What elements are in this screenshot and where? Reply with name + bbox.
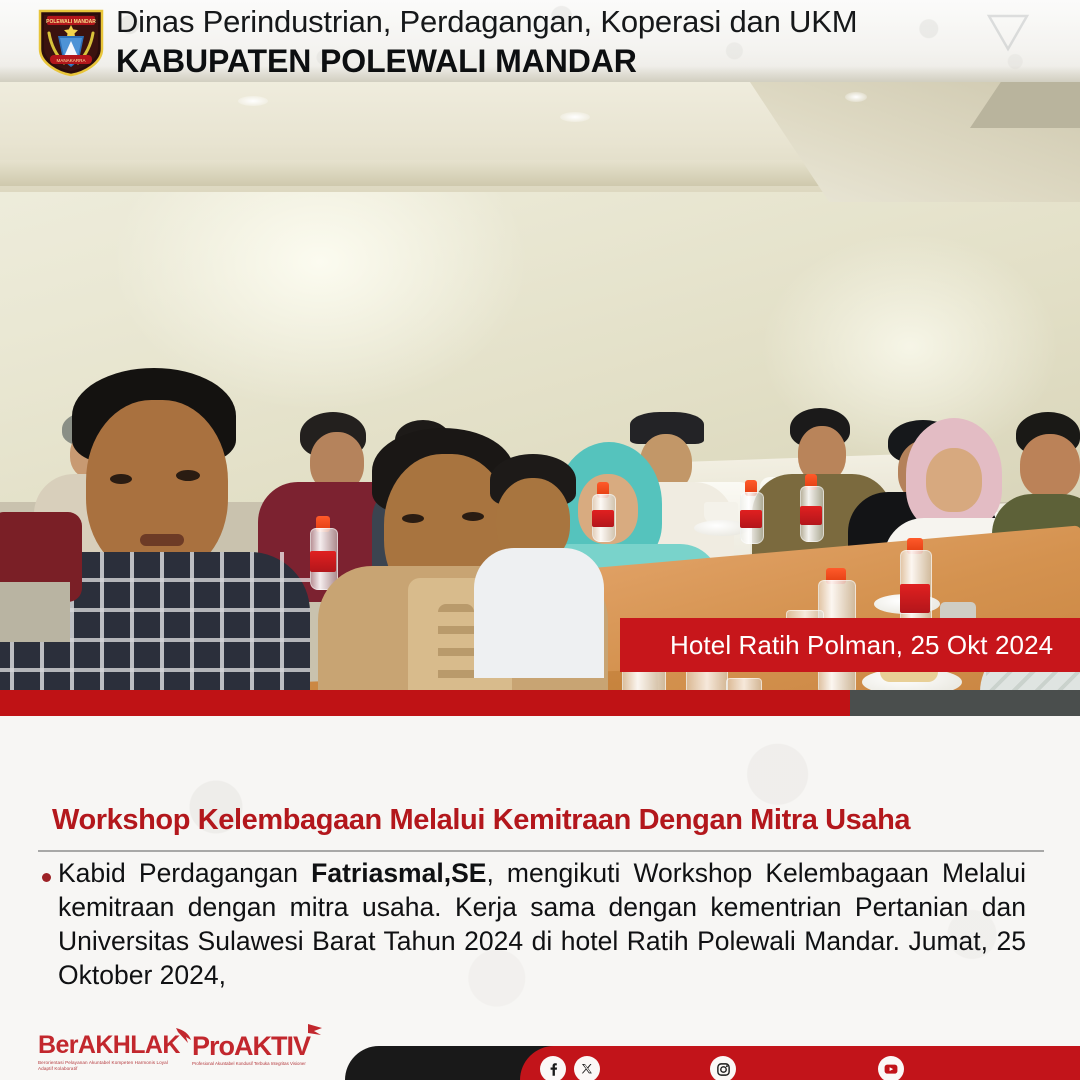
- divider-band-red: [0, 690, 850, 716]
- proaktiv-wordmark: ProAKTIV: [192, 1032, 310, 1060]
- poster-footer: BerAKHLAK Berorientasi Pelayanan Akuntab…: [0, 1010, 1080, 1080]
- berakhlak-wordmark: BerAKHLAK: [38, 1032, 180, 1058]
- berakhlak-prefix: Ber: [38, 1031, 78, 1059]
- swoosh-arrow-icon: [174, 1026, 194, 1051]
- divider-band: [0, 690, 1080, 716]
- headline-divider: [38, 850, 1044, 852]
- poster-header: POLEWALI MANDAR MANAKARRA Dinas Perindus…: [0, 0, 1080, 82]
- social-links: [540, 1056, 960, 1080]
- ceiling-light: [845, 92, 867, 102]
- svg-text:POLEWALI MANDAR: POLEWALI MANDAR: [46, 19, 96, 25]
- eye: [176, 470, 200, 481]
- berakhlak-tagline: Berorientasi Pelayanan Akuntabel Kompete…: [38, 1060, 184, 1072]
- water-bottle: [740, 480, 762, 542]
- article-headline: Workshop Kelembagaan Melalui Kemitraan D…: [52, 804, 1032, 837]
- ceiling-light: [560, 112, 590, 122]
- divider-band-gray: [850, 690, 1080, 716]
- attendee-head: [1020, 434, 1080, 498]
- polewali-mandar-coat-of-arms-icon: POLEWALI MANDAR MANAKARRA: [34, 5, 108, 77]
- svg-text:MANAKARRA: MANAKARRA: [56, 58, 86, 63]
- photo-caption: Hotel Ratih Polman, 25 Okt 2024: [620, 618, 1080, 672]
- body-part-1: Kabid Perdagangan: [58, 858, 311, 888]
- flag-icon: [304, 1022, 326, 1049]
- water-bottle: [800, 474, 822, 540]
- event-photo: Hotel Ratih Polman, 25 Okt 2024: [0, 82, 1080, 708]
- article-body: Kabid Perdagangan Fatriasmal,SE, mengiku…: [58, 856, 1026, 992]
- photo-caption-text: Hotel Ratih Polman, 25 Okt 2024: [620, 630, 1053, 661]
- x-twitter-icon[interactable]: [574, 1056, 600, 1080]
- attendee-body: [474, 548, 604, 678]
- mouth: [140, 534, 184, 546]
- proaktiv-tagline: Profesional Akuntabel Kondusif Terbuka I…: [192, 1061, 340, 1067]
- speaker-name: Fatriasmal,SE: [311, 858, 486, 888]
- foreground-man-face: [86, 400, 228, 576]
- proaktiv-suffix: AKTIV: [234, 1031, 310, 1061]
- proaktiv-prefix: Pro: [192, 1031, 234, 1061]
- berakhlak-logo: BerAKHLAK Berorientasi Pelayanan Akuntab…: [38, 1032, 184, 1072]
- agency-name: Dinas Perindustrian, Perdagangan, Kopera…: [116, 4, 857, 40]
- attendee-head: [926, 448, 982, 512]
- eye: [462, 512, 484, 521]
- youtube-icon[interactable]: [878, 1056, 904, 1080]
- water-bottle: [592, 482, 614, 540]
- header-title-block: Dinas Perindustrian, Perdagangan, Kopera…: [116, 4, 857, 80]
- instagram-icon[interactable]: [710, 1056, 736, 1080]
- social-media-poster: POLEWALI MANDAR MANAKARRA Dinas Perindus…: [0, 0, 1080, 1080]
- ceiling-light: [238, 96, 268, 106]
- bullet-point: [42, 873, 51, 882]
- eye: [402, 514, 424, 523]
- eye: [110, 474, 132, 484]
- foreground-edge: [0, 582, 70, 642]
- proaktiv-logo: ProAKTIV Profesional Akuntabel Kondusif …: [192, 1032, 340, 1067]
- triangle-down-icon: [986, 12, 1030, 52]
- regency-name: KABUPATEN POLEWALI MANDAR: [116, 42, 857, 80]
- berakhlak-suffix: AKHLAK: [78, 1031, 180, 1059]
- water-bottle: [310, 516, 336, 588]
- facebook-icon[interactable]: [540, 1056, 566, 1080]
